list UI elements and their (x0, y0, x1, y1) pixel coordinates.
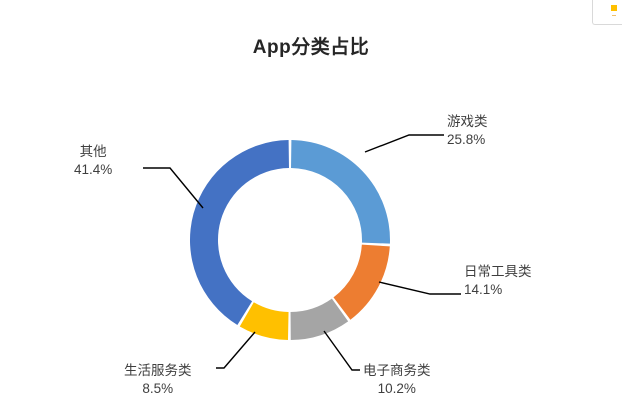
divider-line (612, 15, 616, 16)
slice-label-life: 生活服务类 8.5% (124, 362, 192, 398)
leader-line-games (365, 135, 444, 152)
leader-line-other (143, 168, 203, 208)
slice-label-life-value: 8.5% (124, 380, 192, 398)
slice-label-tools-name: 日常工具类 (464, 263, 532, 281)
donut-chart (0, 0, 622, 412)
slice-label-tools-value: 14.1% (464, 281, 532, 299)
cropped-corner-panel[interactable] (592, 0, 622, 25)
slice-label-life-name: 生活服务类 (124, 362, 192, 380)
slice-label-tools: 日常工具类 14.1% (464, 263, 532, 299)
leader-line-life (216, 332, 255, 368)
chart-container: App分类占比 游戏类 25.8% 日常工具类 14.1% 电子商务类 10.2… (0, 0, 622, 412)
donut-slice-group (190, 140, 390, 340)
donut-slice[interactable] (190, 140, 289, 325)
slice-label-other-value: 41.4% (74, 161, 112, 179)
slice-label-ecommerce-value: 10.2% (363, 380, 431, 398)
slice-label-games: 游戏类 25.8% (447, 113, 488, 149)
slice-label-other: 其他 41.4% (74, 143, 112, 179)
slice-label-other-name: 其他 (74, 143, 112, 161)
leader-line-tools (379, 282, 461, 294)
leader-line-ecommerce (324, 331, 360, 370)
slice-label-ecommerce-name: 电子商务类 (363, 362, 431, 380)
slice-label-games-name: 游戏类 (447, 113, 488, 131)
orange-dot-icon (611, 5, 617, 11)
slice-label-games-value: 25.8% (447, 131, 488, 149)
donut-slice[interactable] (291, 140, 390, 244)
slice-label-ecommerce: 电子商务类 10.2% (363, 362, 431, 398)
